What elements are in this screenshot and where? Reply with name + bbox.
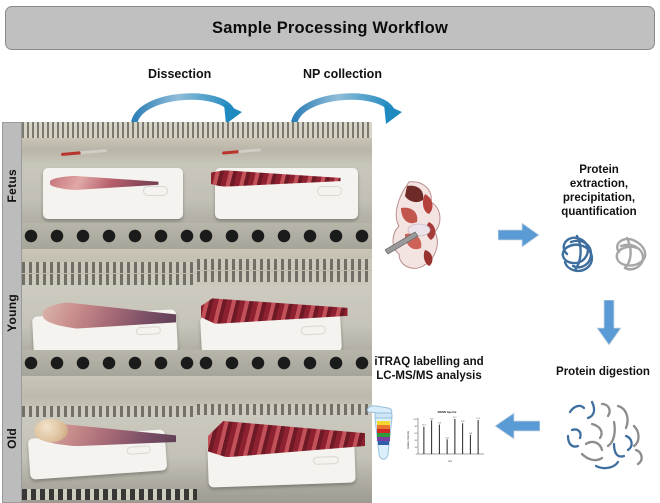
photo-young-dissection [22,249,197,376]
extraction-line-1: Protein [540,163,658,177]
row-label-fetus: Fetus [3,123,21,249]
photo-fetus-np-collection [197,122,372,249]
protein-icon-blue [563,236,592,271]
row-label-column: Fetus Young Old [2,122,22,503]
photo-cells-container [22,122,372,503]
row-label-young-text: Young [5,294,19,332]
np-tissue-image [385,178,457,276]
step-label-np-collection: NP collection [303,67,382,81]
photo-old-np-collection [197,376,372,503]
photo-young-np-collection [197,249,372,376]
workflow-title-bar: Sample Processing Workflow [5,6,655,50]
extraction-line-4: quantification [540,205,658,219]
row-label-old-text: Old [5,428,19,449]
curved-arrow-icon-dissection [128,84,246,126]
itraq-line-1: iTRAQ labelling and [360,355,498,369]
arrow-down-icon-digestion [596,300,622,346]
specimen-photo-grid: Fetus Young Old [2,122,372,503]
arrow-left-icon-analysis [494,412,540,440]
extraction-line-2: extraction, [540,177,658,191]
peptide-fragment-icons [556,392,660,478]
chart-title: MS/MS Spectra [438,410,457,414]
itraq-line-2: LC-MS/MS analysis [360,369,498,383]
protein-icon-gray [617,238,645,269]
chart-ylabel: Relative Intensity [407,430,410,449]
ms-ms-spectrum-chart: MS/MS Spectra Relative Intensity m/z 113… [404,406,490,464]
label-itraq-analysis: iTRAQ labelling and LC-MS/MS analysis [360,355,498,383]
step-label-dissection: Dissection [148,67,211,81]
arrow-right-icon-extraction [498,222,540,248]
row-label-fetus-text: Fetus [5,169,19,203]
photo-fetus-dissection [22,122,197,249]
label-protein-extraction: Protein extraction, precipitation, quant… [540,163,658,219]
row-label-old: Old [3,376,21,502]
label-protein-digestion: Protein digestion [548,365,658,379]
photo-old-dissection [22,376,197,503]
protein-structure-icons [557,228,657,282]
extraction-line-3: precipitation, [540,191,658,205]
curved-arrow-icon-np-collection [288,84,406,126]
row-label-young: Young [3,249,21,375]
microcentrifuge-tube-icon [366,404,400,466]
page-title: Sample Processing Workflow [212,19,448,38]
